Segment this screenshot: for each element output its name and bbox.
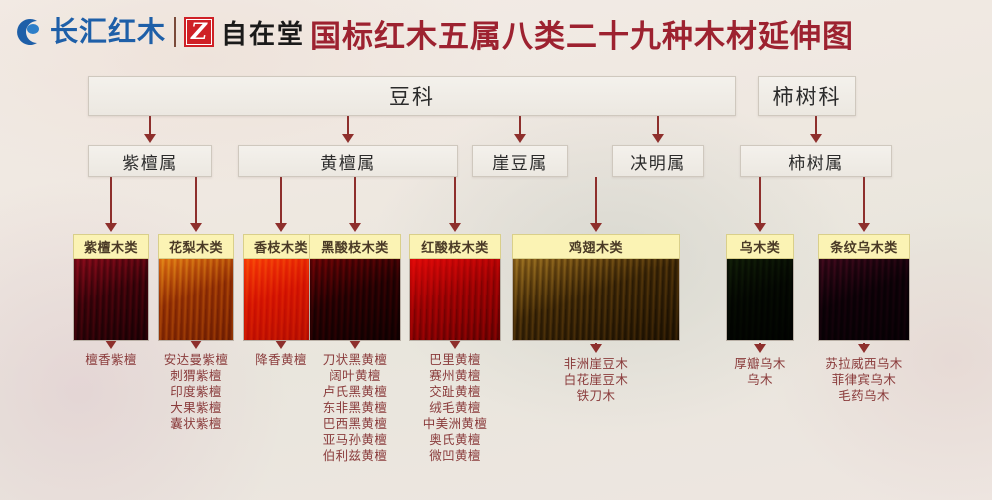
species-item: 伯利兹黄檀	[301, 448, 409, 464]
species-item: 白花崖豆木	[534, 372, 658, 388]
arrow-head-cat-6	[754, 223, 766, 232]
species-list-0: 檀香紫檀	[73, 352, 149, 368]
arrow-head-genus-3	[652, 134, 664, 143]
level2-node-4[interactable]: 柿树属	[740, 145, 892, 177]
arrow-head-category-2	[275, 340, 287, 349]
connector-genus2-cat5	[595, 177, 597, 224]
species-item: 卢氏黑黄檀	[301, 384, 409, 400]
seal-icon: Z	[184, 17, 214, 47]
level1-node-0[interactable]: 豆科	[88, 76, 736, 116]
species-list-6: 厚瓣乌木乌木	[718, 356, 802, 388]
arrow-head-category-7	[858, 344, 870, 353]
connector-family-to-genus-2	[519, 116, 521, 135]
connector-genus0-cat0	[110, 177, 112, 224]
wood-swatch-6	[726, 259, 794, 341]
arrow-head-cat-5	[590, 223, 602, 232]
wood-swatch-2	[243, 259, 319, 341]
connector-genus0-cat1	[195, 177, 197, 224]
arrow-head-category-0	[105, 340, 117, 349]
species-item: 亚马孙黄檀	[301, 432, 409, 448]
species-item: 赛州黄檀	[401, 368, 509, 384]
level1-node-1[interactable]: 柿树科	[758, 76, 856, 116]
arrow-head-category-1	[190, 340, 202, 349]
connector-genus4-cat7	[863, 177, 865, 224]
category-label-0[interactable]: 紫檀木类	[73, 234, 149, 259]
species-item: 非洲崖豆木	[534, 356, 658, 372]
species-item: 阔叶黄檀	[301, 368, 409, 384]
species-list-4: 巴里黄檀赛州黄檀交趾黄檀绒毛黄檀中美洲黄檀奥氏黄檀微凹黄檀	[401, 352, 509, 464]
connector-genus1-cat4	[454, 177, 456, 224]
species-item: 大果紫檀	[150, 400, 242, 416]
arrow-head-cat-1	[190, 223, 202, 232]
level2-node-0[interactable]: 紫檀属	[88, 145, 212, 177]
connector-genus1-cat2	[280, 177, 282, 224]
category-label-3[interactable]: 黑酸枝木类	[309, 234, 401, 259]
category-label-7[interactable]: 条纹乌木类	[818, 234, 910, 259]
connector-family-to-genus-1	[347, 116, 349, 135]
species-item: 中美洲黄檀	[401, 416, 509, 432]
wood-swatch-5	[512, 259, 680, 341]
species-list-1: 安达曼紫檀刺猬紫檀印度紫檀大果紫檀囊状紫檀	[150, 352, 242, 432]
arrow-head-category-3	[349, 340, 361, 349]
wood-swatch-4	[409, 259, 501, 341]
wood-swatch-3	[309, 259, 401, 341]
connector-genus3-cat6	[759, 177, 761, 224]
arrow-head-cat-7	[858, 223, 870, 232]
species-item: 苏拉威西乌木	[808, 356, 920, 372]
category-label-1[interactable]: 花梨木类	[158, 234, 234, 259]
arrow-head-cat-2	[275, 223, 287, 232]
arrow-head-genus-1	[342, 134, 354, 143]
species-list-5: 非洲崖豆木白花崖豆木铁刀木	[534, 356, 658, 404]
category-label-6[interactable]: 乌木类	[726, 234, 794, 259]
species-list-3: 刀状黑黄檀阔叶黄檀卢氏黑黄檀东非黑黄檀巴西黑黄檀亚马孙黄檀伯利兹黄檀	[301, 352, 409, 464]
category-label-5[interactable]: 鸡翅木类	[512, 234, 680, 259]
species-item: 檀香紫檀	[73, 352, 149, 368]
species-item: 交趾黄檀	[401, 384, 509, 400]
connector-family-to-genus-4	[815, 116, 817, 135]
level2-node-1[interactable]: 黄檀属	[238, 145, 458, 177]
wood-swatch-1	[158, 259, 234, 341]
species-item: 绒毛黄檀	[401, 400, 509, 416]
species-item: 奥氏黄檀	[401, 432, 509, 448]
species-item: 菲律宾乌木	[808, 372, 920, 388]
arrow-head-genus-4	[810, 134, 822, 143]
species-item: 印度紫檀	[150, 384, 242, 400]
crescent-moon-icon	[14, 17, 44, 47]
arrow-head-cat-0	[105, 223, 117, 232]
species-item: 刀状黑黄檀	[301, 352, 409, 368]
page-title: 国标红木五属八类二十九种木材延伸图	[310, 11, 854, 56]
species-item: 安达曼紫檀	[150, 352, 242, 368]
arrow-head-category-6	[754, 344, 766, 353]
arrow-head-cat-3	[349, 223, 361, 232]
species-item: 乌木	[718, 372, 802, 388]
connector-family-to-genus-0	[149, 116, 151, 135]
arrow-head-genus-0	[144, 134, 156, 143]
wood-swatch-7	[818, 259, 910, 341]
species-item: 厚瓣乌木	[718, 356, 802, 372]
category-label-2[interactable]: 香枝木类	[243, 234, 319, 259]
brand-secondary-text: 自在堂	[221, 14, 305, 51]
connector-genus1-cat3	[354, 177, 356, 224]
diagram-canvas: 长汇红木 Z 自在堂 国标红木五属八类二十九种木材延伸图 豆科柿树科 紫檀属黄檀…	[0, 0, 992, 500]
species-item: 刺猬紫檀	[150, 368, 242, 384]
species-list-7: 苏拉威西乌木菲律宾乌木毛药乌木	[808, 356, 920, 404]
category-label-4[interactable]: 红酸枝木类	[409, 234, 501, 259]
level2-node-2[interactable]: 崖豆属	[472, 145, 568, 177]
header: 长汇红木 Z 自在堂 国标红木五属八类二十九种木材延伸图	[0, 0, 992, 62]
species-item: 巴里黄檀	[401, 352, 509, 368]
brand-divider	[174, 17, 176, 47]
arrow-head-category-4	[449, 340, 461, 349]
level2-node-3[interactable]: 决明属	[612, 145, 704, 177]
species-item: 东非黑黄檀	[301, 400, 409, 416]
species-item: 铁刀木	[534, 388, 658, 404]
species-item: 巴西黑黄檀	[301, 416, 409, 432]
species-item: 囊状紫檀	[150, 416, 242, 432]
brand-primary-text: 长汇红木	[50, 18, 166, 46]
wood-swatch-0	[73, 259, 149, 341]
species-item: 微凹黄檀	[401, 448, 509, 464]
connector-family-to-genus-3	[657, 116, 659, 135]
brand-logo-group: 长汇红木 Z 自在堂	[14, 14, 305, 50]
arrow-head-genus-2	[514, 134, 526, 143]
species-item: 毛药乌木	[808, 388, 920, 404]
arrow-head-cat-4	[449, 223, 461, 232]
arrow-head-category-5	[590, 344, 602, 353]
